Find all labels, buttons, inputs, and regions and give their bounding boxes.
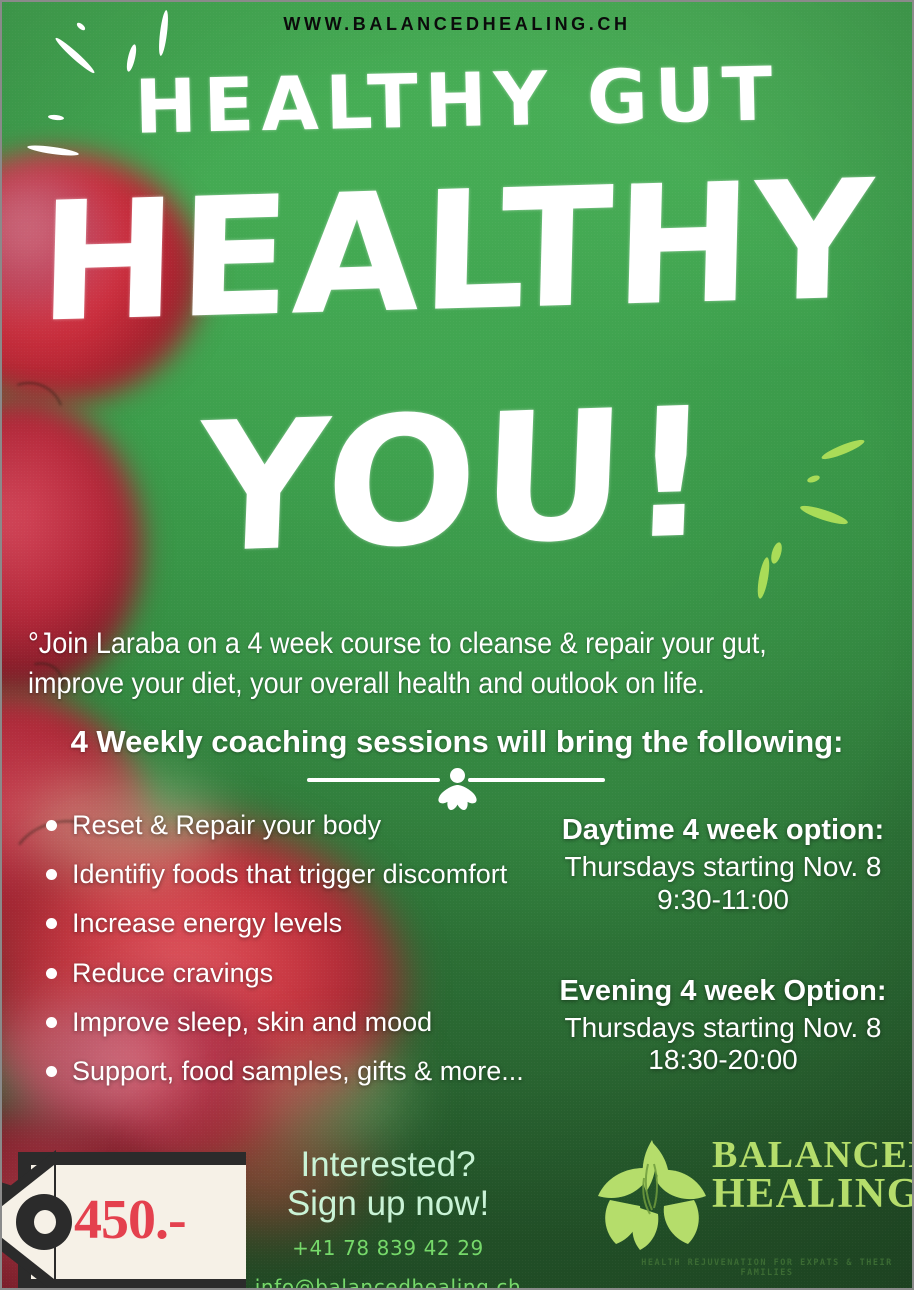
cta-line-2: Sign up now! bbox=[238, 1184, 538, 1223]
intro-paragraph: °Join Laraba on a 4 week course to clean… bbox=[28, 624, 797, 703]
contact-email[interactable]: info@balancedhealing.ch bbox=[238, 1274, 538, 1290]
logo-name-line1: BALANCED bbox=[712, 1138, 906, 1173]
call-to-action: Interested? Sign up now! +41 78 839 42 2… bbox=[238, 1145, 538, 1290]
schedule-title: Evening 4 week Option: bbox=[550, 975, 896, 1008]
lotus-leaf-icon bbox=[594, 1134, 710, 1254]
divider bbox=[2, 764, 912, 812]
schedule-title: Daytime 4 week option: bbox=[550, 814, 896, 847]
benefits-list: Reset & Repair your body Identifiy foods… bbox=[38, 810, 538, 1105]
list-item: Identifiy foods that trigger discomfort bbox=[38, 859, 538, 889]
schedule-block: Daytime 4 week option: Thursdays startin… bbox=[550, 814, 896, 1077]
brand-logo: BALANCED HEALING HEALTH REJUVENATION FOR… bbox=[594, 1128, 906, 1288]
tag-hole-inner bbox=[34, 1210, 56, 1234]
logo-wordmark: BALANCED HEALING bbox=[712, 1138, 906, 1214]
schedule-days: Thursdays starting Nov. 8 bbox=[550, 851, 896, 884]
cta-line-1: Interested? bbox=[238, 1145, 538, 1184]
content-layer: WWW.BALANCEDHEALING.CH HEALTHY GUT HEALT… bbox=[2, 2, 912, 1288]
list-item: Support, food samples, gifts & more... bbox=[38, 1056, 538, 1086]
logo-name-line2: HEALING bbox=[712, 1175, 906, 1214]
section-subheading: 4 Weekly coaching sessions will bring th… bbox=[2, 724, 912, 760]
contact-phone[interactable]: +41 78 839 42 29 bbox=[238, 1235, 538, 1261]
list-item: Reset & Repair your body bbox=[38, 810, 538, 840]
burst-dash-green-icon bbox=[755, 557, 771, 600]
site-url: WWW.BALANCEDHEALING.CH bbox=[2, 14, 912, 35]
schedule-days: Thursdays starting Nov. 8 bbox=[550, 1012, 896, 1045]
logo-tagline: HEALTH REJUVENATION FOR EXPATS & THEIR F… bbox=[628, 1258, 906, 1278]
price-amount: 450.- bbox=[74, 1188, 234, 1252]
poster: WWW.BALANCEDHEALING.CH HEALTHY GUT HEALT… bbox=[0, 0, 914, 1290]
headline-line1: HEALTHY bbox=[0, 157, 914, 347]
schedule-option-daytime: Daytime 4 week option: Thursdays startin… bbox=[550, 814, 896, 917]
list-item: Improve sleep, skin and mood bbox=[38, 1007, 538, 1037]
price-tag: 450.- bbox=[0, 1152, 246, 1290]
flower-ornament-icon bbox=[422, 768, 492, 812]
ornament-dot bbox=[450, 768, 465, 783]
headline-line2: YOU! bbox=[0, 378, 914, 585]
headline-kicker: HEALTHY GUT bbox=[1, 54, 912, 147]
divider-line-left bbox=[307, 778, 440, 782]
schedule-option-evening: Evening 4 week Option: Thursdays startin… bbox=[550, 975, 896, 1078]
burst-dash-icon bbox=[53, 36, 96, 76]
schedule-time: 9:30-11:00 bbox=[550, 884, 896, 917]
schedule-time: 18:30-20:00 bbox=[550, 1044, 896, 1077]
list-item: Increase energy levels bbox=[38, 908, 538, 938]
list-item: Reduce cravings bbox=[38, 958, 538, 988]
